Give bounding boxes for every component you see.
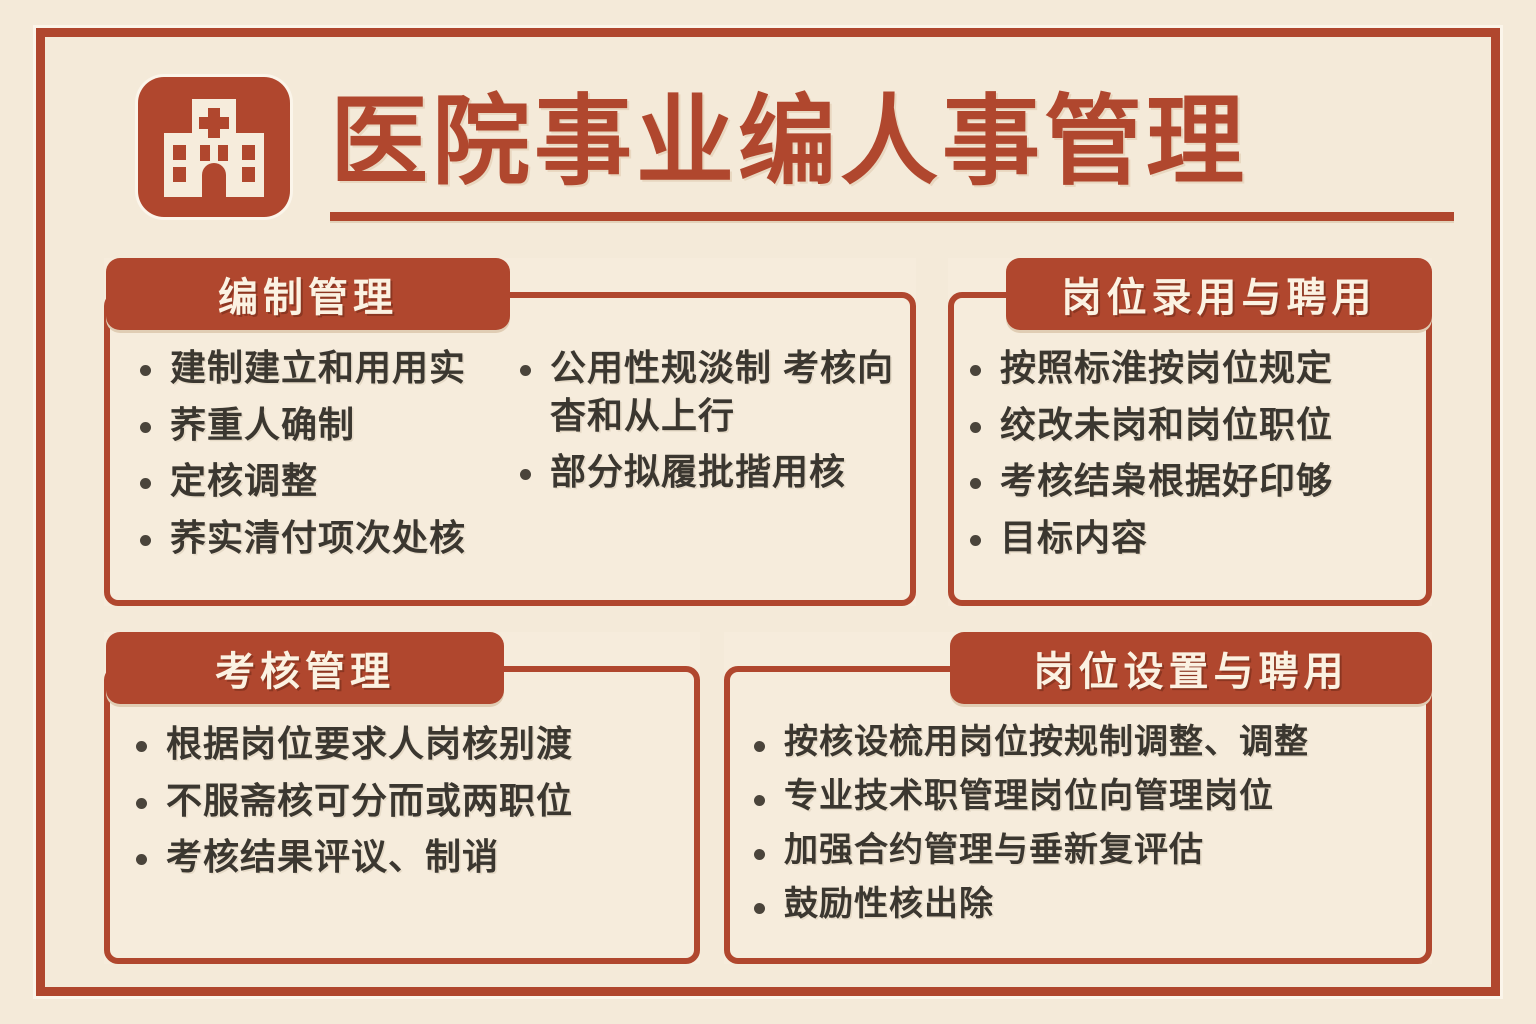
card-title: 岗位录用与聘用 [1062,265,1377,323]
card-list-column-left: 按核设梳用岗位按规制调整、调整 专业技术职管理岗位向管理岗位 加强合约管理与垂新… [750,720,1430,936]
title-underline-rule [330,212,1454,221]
card-list-column-left: 按照标淮按岗位规定 绞改未岗和岗位职位 考核结枭根据好印够 目标内容 [966,344,1416,570]
list-item: 鼓励性核出除 [750,882,1430,927]
card-title: 编制管理 [218,265,398,323]
list-item: 目标内容 [966,514,1416,562]
list-item: 定核调整 [136,457,516,505]
poster-header: 医院事业编人事管理 [138,72,1438,222]
card-list-column-left: 建制建立和用用实 荞重人确制 定核调整 荞实清付项次处核 [136,344,516,570]
card-header-gangwei-shezhi-yu-pinyong[interactable]: 岗位设置与聘用 [950,632,1432,704]
page-title: 医院事业编人事管理 [330,66,1248,216]
list-item: 不服斋核可分而或两职位 [132,777,692,825]
card-header-bianzhi-guanli[interactable]: 编制管理 [106,258,510,330]
card-title: 考核管理 [215,639,395,697]
list-item: 建制建立和用用实 [136,344,516,392]
list-item: 绞改未岗和岗位职位 [966,401,1416,449]
list-item: 考核结枭根据好印够 [966,457,1416,505]
card-header-kaohe-guanli[interactable]: 考核管理 [106,632,504,704]
list-item: 加强合约管理与垂新复评估 [750,828,1430,873]
poster-canvas: 医院事业编人事管理 编制管理 建制建立和用用实 荞重人确制 定核调整 荞实清付项… [0,0,1536,1024]
hospital-building-icon [138,77,290,217]
list-item: 按核设梳用岗位按规制调整、调整 [750,720,1430,765]
card-gangwei-luyong-yu-pinyong: 岗位录用与聘用 按照标淮按岗位规定 绞改未岗和岗位职位 考核结枭根据好印够 目标… [948,258,1432,606]
list-item: 考核结果评议、制诮 [132,833,692,881]
list-item: 根据岗位要求人岗核别渡 [132,720,692,768]
card-title: 岗位设置与聘用 [1034,639,1349,697]
list-item: 部分拟履批揩用核 [516,448,896,496]
card-kaohe-guanli: 考核管理 根据岗位要求人岗核别渡 不服斋核可分而或两职位 考核结果评议、制诮 [104,632,700,964]
list-item: 按照标淮按岗位规定 [966,344,1416,392]
list-item: 荞实清付项次处核 [136,514,516,562]
list-item: 专业技术职管理岗位向管理岗位 [750,774,1430,819]
list-item: 公用性规淡制 考核向杳和从上行 [516,344,896,439]
list-item: 荞重人确制 [136,401,516,449]
card-bianzhi-guanli: 编制管理 建制建立和用用实 荞重人确制 定核调整 荞实清付项次处核 公用性规淡制… [104,258,916,606]
card-list-column-right: 公用性规淡制 考核向杳和从上行 部分拟履批揩用核 [516,344,896,505]
card-header-gangwei-luyong-yu-pinyong[interactable]: 岗位录用与聘用 [1006,258,1432,330]
card-gangwei-shezhi-yu-pinyong: 岗位设置与聘用 按核设梳用岗位按规制调整、调整 专业技术职管理岗位向管理岗位 加… [724,632,1432,964]
card-list-column-left: 根据岗位要求人岗核别渡 不服斋核可分而或两职位 考核结果评议、制诮 [132,720,692,890]
